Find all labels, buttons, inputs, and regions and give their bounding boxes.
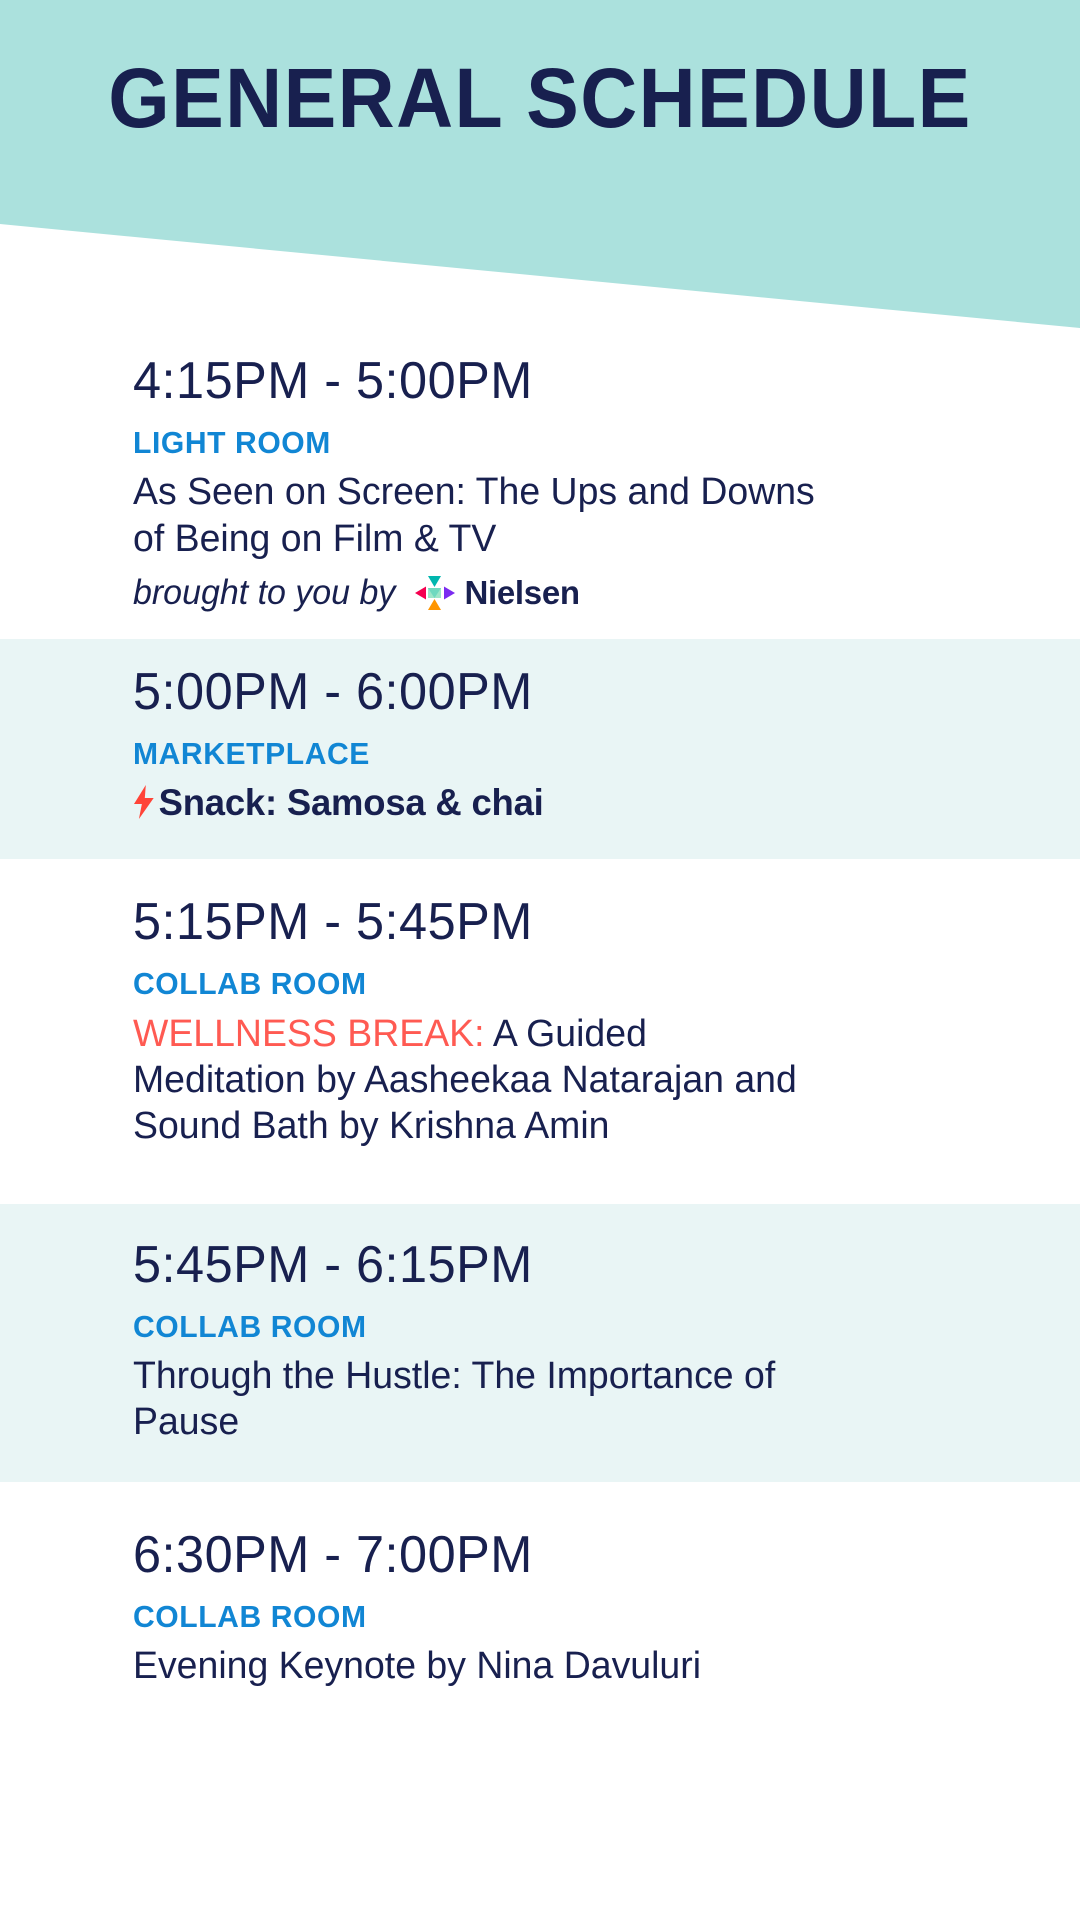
session-time: 5:15PM - 5:45PM	[133, 893, 923, 951]
schedule-row[interactable]: 5:00PM - 6:00PM MARKETPLACE Snack: Samos…	[0, 639, 1080, 860]
nielsen-mark-icon	[415, 576, 455, 610]
session-title: Snack: Samosa & chai	[133, 780, 823, 825]
schedule-row[interactable]: 5:45PM - 6:15PM COLLAB ROOM Through the …	[0, 1204, 1080, 1482]
session-title: Through the Hustle: The Importance of Pa…	[133, 1353, 823, 1446]
session-sponsor: brought to you by Nielsen	[133, 574, 947, 613]
page-header: GENERAL SCHEDULE	[0, 0, 1080, 330]
session-room: MARKETPLACE	[133, 735, 923, 772]
session-time: 4:15PM - 5:00PM	[133, 352, 923, 410]
lightning-bolt-icon	[133, 785, 155, 819]
snack-label: Snack: Samosa & chai	[159, 780, 544, 825]
schedule-row[interactable]: 6:30PM - 7:00PM COLLAB ROOM Evening Keyn…	[0, 1482, 1080, 1730]
session-time: 6:30PM - 7:00PM	[133, 1526, 923, 1584]
sponsor-prefix-label: brought to you by	[133, 574, 395, 613]
session-room: LIGHT ROOM	[133, 424, 923, 461]
session-title-highlight: WELLNESS BREAK:	[133, 1013, 485, 1055]
session-room: COLLAB ROOM	[133, 965, 923, 1002]
session-time: 5:45PM - 6:15PM	[133, 1236, 923, 1294]
session-title: WELLNESS BREAK: A Guided Meditation by A…	[133, 1011, 823, 1150]
schedule-list: 4:15PM - 5:00PM LIGHT ROOM As Seen on Sc…	[0, 330, 1080, 1730]
schedule-row[interactable]: 5:15PM - 5:45PM COLLAB ROOM WELLNESS BRE…	[0, 859, 1080, 1186]
nielsen-logo: Nielsen	[415, 575, 579, 611]
session-title: Evening Keynote by Nina Davuluri	[133, 1643, 823, 1689]
schedule-row[interactable]: 4:15PM - 5:00PM LIGHT ROOM As Seen on Sc…	[0, 330, 1080, 639]
page-title: GENERAL SCHEDULE	[32, 56, 1047, 140]
nielsen-wordmark: Nielsen	[464, 575, 579, 611]
session-title: As Seen on Screen: The Ups and Downs of …	[133, 469, 823, 562]
session-time: 5:00PM - 6:00PM	[133, 663, 923, 721]
header-background-shape	[0, 0, 1080, 330]
session-room: COLLAB ROOM	[133, 1308, 923, 1345]
session-room: COLLAB ROOM	[133, 1598, 923, 1635]
